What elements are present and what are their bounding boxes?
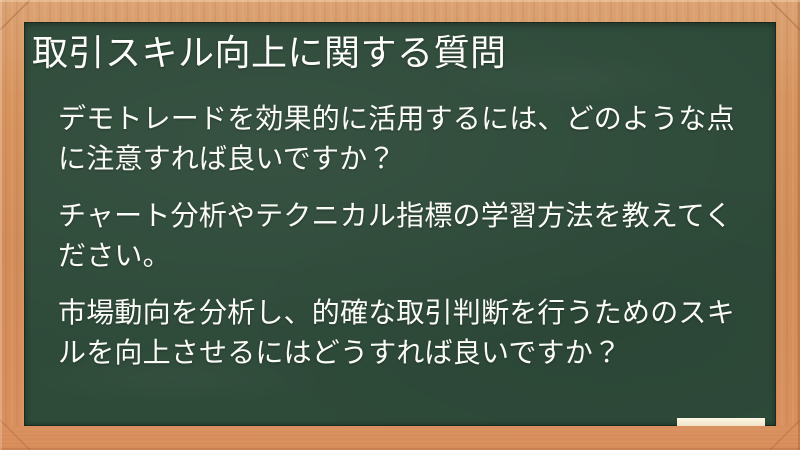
frame-rail-top [0,0,800,22]
list-item: チャート分析やテクニカル指標の学習方法を教えてください。 [58,196,758,276]
page-title: 取引スキル向上に関する質問 [32,32,762,76]
chalkboard-surface: 取引スキル向上に関する質問 デモトレードを効果的に活用するには、どのような点に注… [24,22,776,426]
list-item: デモトレードを効果的に活用するには、どのような点に注意すれば良いですか？ [58,99,758,179]
frame-ledge-bottom [0,426,800,450]
chalkboard-frame: 取引スキル向上に関する質問 デモトレードを効果的に活用するには、どのような点に注… [0,0,800,450]
chalk-piece [677,418,765,426]
question-list: デモトレードを効果的に活用するには、どのような点に注意すれば良いですか？ チャー… [58,99,758,373]
list-item: 市場動向を分析し、的確な取引判断を行うためのスキルを向上させるにはどうすれば良い… [58,293,758,373]
